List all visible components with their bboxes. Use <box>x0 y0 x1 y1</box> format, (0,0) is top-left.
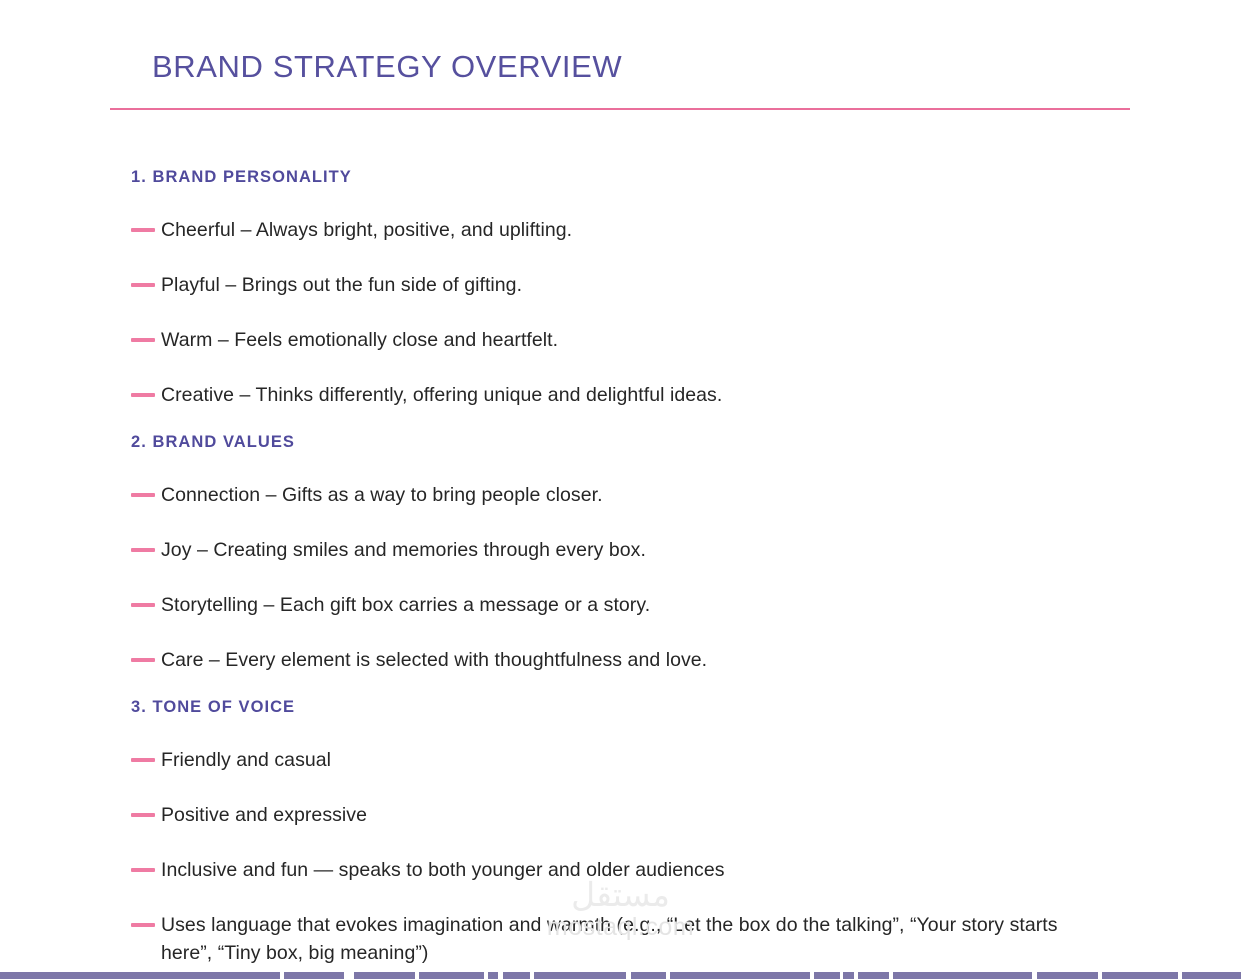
list-item: Friendly and casual <box>131 746 1131 774</box>
band-segment <box>893 972 1032 979</box>
band-segment <box>488 972 499 979</box>
bullet-list: Friendly and casual Positive and express… <box>131 746 1131 967</box>
list-item-label: Joy – Creating smiles and memories throu… <box>161 536 646 564</box>
list-item-label: Creative – Thinks differently, offering … <box>161 381 722 409</box>
section-heading: 1. BRAND PERSONALITY <box>131 166 1131 188</box>
page-title: BRAND STRATEGY OVERVIEW <box>110 48 1130 86</box>
list-item-label: Cheerful – Always bright, positive, and … <box>161 216 572 244</box>
band-segment <box>534 972 626 979</box>
document-header: BRAND STRATEGY OVERVIEW <box>110 48 1130 110</box>
band-segment <box>843 972 854 979</box>
section-heading: 3. TONE OF VOICE <box>131 696 1131 718</box>
dash-bullet-icon <box>131 758 155 762</box>
band-segment <box>1182 972 1241 979</box>
list-item-label: Positive and expressive <box>161 801 367 829</box>
bullet-list: Cheerful – Always bright, positive, and … <box>131 216 1131 409</box>
document-page: BRAND STRATEGY OVERVIEW 1. BRAND PERSONA… <box>0 0 1241 979</box>
list-item-label: Warm – Feels emotionally close and heart… <box>161 326 558 354</box>
band-segment <box>419 972 483 979</box>
dash-bullet-icon <box>131 228 155 232</box>
dash-bullet-icon <box>131 283 155 287</box>
list-item-label: Uses language that evokes imagination an… <box>161 911 1066 967</box>
list-item: Cheerful – Always bright, positive, and … <box>131 216 1131 244</box>
dash-bullet-icon <box>131 603 155 607</box>
list-item: Positive and expressive <box>131 801 1131 829</box>
dash-bullet-icon <box>131 493 155 497</box>
band-segment <box>631 972 667 979</box>
band-segment <box>1037 972 1097 979</box>
dash-bullet-icon <box>131 658 155 662</box>
bullet-list: Connection – Gifts as a way to bring peo… <box>131 481 1131 674</box>
list-item: Storytelling – Each gift box carries a m… <box>131 591 1131 619</box>
dash-bullet-icon <box>131 338 155 342</box>
band-segment <box>1102 972 1178 979</box>
band-segment <box>0 972 280 979</box>
dash-bullet-icon <box>131 393 155 397</box>
list-item-label: Connection – Gifts as a way to bring peo… <box>161 481 603 509</box>
list-item: Warm – Feels emotionally close and heart… <box>131 326 1131 354</box>
band-segment <box>814 972 840 979</box>
document-body: 1. BRAND PERSONALITY Cheerful – Always b… <box>131 166 1131 967</box>
section-heading: 2. BRAND VALUES <box>131 431 1131 453</box>
list-item-label: Storytelling – Each gift box carries a m… <box>161 591 650 619</box>
band-segment <box>354 972 415 979</box>
list-item: Care – Every element is selected with th… <box>131 646 1131 674</box>
band-segment <box>858 972 889 979</box>
list-item: Connection – Gifts as a way to bring peo… <box>131 481 1131 509</box>
band-segment <box>284 972 344 979</box>
list-item-label: Friendly and casual <box>161 746 331 774</box>
dash-bullet-icon <box>131 923 155 927</box>
list-item: Uses language that evokes imagination an… <box>131 911 1131 967</box>
list-item: Playful – Brings out the fun side of gif… <box>131 271 1131 299</box>
section-brand-personality: 1. BRAND PERSONALITY Cheerful – Always b… <box>131 166 1131 409</box>
dash-bullet-icon <box>131 813 155 817</box>
list-item-label: Care – Every element is selected with th… <box>161 646 707 674</box>
list-item: Joy – Creating smiles and memories throu… <box>131 536 1131 564</box>
band-segment <box>503 972 530 979</box>
dash-bullet-icon <box>131 868 155 872</box>
list-item-label: Inclusive and fun — speaks to both young… <box>161 856 725 884</box>
bottom-decorative-band <box>0 972 1241 979</box>
band-segment <box>670 972 809 979</box>
list-item-label: Playful – Brings out the fun side of gif… <box>161 271 522 299</box>
section-brand-values: 2. BRAND VALUES Connection – Gifts as a … <box>131 431 1131 674</box>
title-divider <box>110 108 1130 110</box>
list-item: Creative – Thinks differently, offering … <box>131 381 1131 409</box>
band-gap <box>344 972 354 979</box>
dash-bullet-icon <box>131 548 155 552</box>
list-item: Inclusive and fun — speaks to both young… <box>131 856 1131 884</box>
section-tone-of-voice: 3. TONE OF VOICE Friendly and casual Pos… <box>131 696 1131 967</box>
